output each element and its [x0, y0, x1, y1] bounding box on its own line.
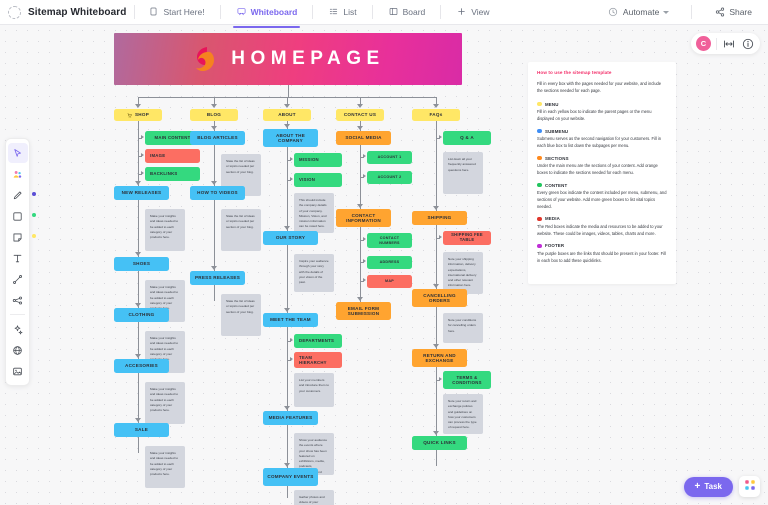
tab-start-here[interactable]: Start Here! [143, 1, 209, 23]
connector-arrow [135, 104, 141, 108]
legend-section-menu: MENUFill in each yellow box to indicate … [537, 102, 667, 123]
node-sticky-note[interactable]: Inspire your audience through your story… [294, 254, 334, 292]
globe-icon [12, 345, 23, 356]
connector-arrow [211, 266, 217, 270]
node-label: BLOG ARTICLES [197, 135, 238, 140]
node-label: MAP [385, 279, 394, 283]
connector-arrow [290, 157, 293, 161]
board-icon [388, 6, 399, 17]
sticky-note-tool[interactable] [8, 227, 28, 247]
node-how-to-videos[interactable]: HOW TO VIDEOS [190, 186, 245, 200]
node-label: NEW RELEASES [122, 190, 162, 195]
legend-section-header: SUBMENU [537, 129, 667, 134]
connector-arrow [433, 104, 439, 108]
connector-arrow [433, 431, 439, 435]
task-label: Task [704, 482, 722, 491]
sticky-note-text: Note your return and exchange policies a… [448, 399, 478, 431]
connector-arrow [135, 303, 141, 307]
node-label: COMPANY EVENTS [267, 474, 313, 479]
node-sticky-note[interactable]: Gather photos and videos of your company… [294, 490, 334, 505]
homepage-banner[interactable]: HOMEPAGE [114, 33, 462, 85]
sticky-note-text: Note your shipping information, delivery… [448, 257, 478, 289]
node-shoes[interactable]: SHOES [114, 257, 169, 271]
node-label: OUR STORY [276, 235, 305, 240]
sticky-note-text: Inspire your audience through your story… [299, 259, 329, 285]
mindmap-tool[interactable] [8, 290, 28, 310]
connector-arrow [439, 135, 442, 139]
node-label: ACCESORIES [125, 363, 158, 368]
image-tool[interactable] [8, 361, 28, 381]
legend-section-header: MEDIA [537, 216, 667, 221]
connector-arrow [211, 181, 217, 185]
divider [372, 5, 373, 19]
sticky-note-text: Make your insights and ideas needed to b… [150, 214, 180, 240]
node-label: ACCOUNT 2 [378, 175, 402, 179]
legend-color-dot [537, 244, 542, 249]
node-media-features[interactable]: MEDIA FEATURES [263, 411, 318, 425]
embed-tool[interactable] [8, 340, 28, 360]
divider [134, 5, 135, 19]
tab-label: List [343, 7, 356, 17]
legend-section-header: CONTENT [537, 183, 667, 188]
node-q-a[interactable]: Q & A [443, 131, 491, 145]
node-label: HOW TO VIDEOS [197, 190, 238, 195]
connector-arrow [290, 177, 293, 181]
node-departments[interactable]: DEPARTMENTS [294, 334, 342, 348]
connector-arrow [439, 377, 442, 381]
legend-section-name: MENU [545, 102, 559, 107]
legend-section-header: FOOTER [537, 243, 667, 248]
node-contact-numbers[interactable]: CONTACT NUMBERS [367, 233, 412, 248]
connector-arrow [135, 354, 141, 358]
ai-tool[interactable] [8, 319, 28, 339]
connector-arrow [363, 259, 366, 263]
connector-arrow [357, 297, 363, 301]
share-label: Share [729, 7, 752, 17]
legend-section-content: CONTENTEvery green box indicate the cont… [537, 183, 667, 211]
tab-label: Start Here! [163, 7, 204, 17]
divider [312, 5, 313, 19]
connector-arrow [290, 338, 293, 342]
connector-arrow [439, 235, 442, 239]
node-email-form-submission[interactable]: EMAIL FORM SUBMISSION [336, 302, 391, 320]
node-label: RETURN AND EXCHANGE [415, 353, 464, 364]
node-account-2[interactable]: ACCOUNT 2 [367, 171, 412, 184]
node-vision[interactable]: VISION [294, 173, 342, 187]
share-button[interactable]: Share [706, 3, 760, 22]
info-icon[interactable] [741, 37, 755, 51]
node-sticky-note[interactable]: This should include the company details … [294, 193, 334, 233]
top-bar: Sitemap Whiteboard Start Here!Whiteboard… [0, 0, 768, 25]
node-press-releases[interactable]: PRESS RELEASES [190, 271, 245, 285]
pen-tool[interactable] [8, 185, 28, 205]
node-faqs[interactable]: FAQs [412, 109, 460, 121]
sticky-note-text: List your members and introduce them to … [299, 378, 329, 394]
sticky-note-text: Make your insights and ideas needed to b… [150, 451, 180, 477]
node-label: TERMS & CONDITIONS [446, 375, 488, 385]
list-icon [328, 6, 339, 17]
node-label: SHIPPING [428, 215, 452, 220]
whiteboard-canvas[interactable]: HOMEPAGE SHOPBLOGABOUTCONTACT USFAQsMAIN… [0, 25, 768, 505]
node-shipping[interactable]: SHIPPING [412, 211, 467, 225]
color-indicator-dot [32, 213, 36, 217]
legend-color-dot [537, 217, 542, 222]
sticky-note-text: State the list of ideas or topics needed… [226, 214, 256, 230]
connector-line [138, 121, 139, 453]
square-icon [12, 211, 23, 222]
homepage-title: HOMEPAGE [231, 48, 384, 70]
divider [220, 5, 221, 19]
add-task-button[interactable]: + Task [684, 477, 733, 497]
tab-list[interactable]: List [323, 1, 361, 23]
connector-arrow [211, 126, 217, 130]
legend-section-name: CONTENT [545, 183, 567, 188]
legend-section-text: The purple boxes are the links that shou… [537, 251, 667, 265]
tab-label: Whiteboard [251, 7, 298, 17]
node-sticky-note[interactable]: State the list of ideas or topics needed… [221, 209, 261, 251]
node-label: SHOP [135, 112, 149, 117]
tab-view[interactable]: View [451, 1, 494, 23]
node-label: ADDRESS [380, 260, 400, 264]
legend-section-text: Fill in each yellow box to indicate the … [537, 109, 667, 123]
left-toolbar [5, 138, 30, 386]
connector-arrow [284, 406, 290, 410]
sticky-note-text: This should include the company details … [299, 198, 329, 230]
connector-arrow [284, 226, 290, 230]
node-sticky-note[interactable]: List your members and introduce them to … [294, 373, 334, 407]
legend-section-name: MEDIA [545, 216, 560, 221]
node-label: MEDIA FEATURES [269, 415, 313, 420]
node-meet-the-team[interactable]: MEET THE TEAM [263, 313, 318, 327]
node-shop[interactable]: SHOP [114, 109, 162, 121]
bottom-right-actions: + Task [684, 476, 760, 497]
node-our-story[interactable]: OUR STORY [263, 231, 318, 245]
tab-whiteboard[interactable]: Whiteboard [231, 1, 303, 23]
brand-mark-icon [191, 45, 217, 73]
node-sticky-note[interactable]: Note your conditions for cancelling orde… [443, 313, 483, 343]
node-label: VISION [299, 177, 315, 182]
legend-color-dot [537, 102, 542, 107]
chevron-down-icon[interactable] [663, 11, 669, 14]
node-label: ABOUT [278, 112, 296, 117]
connector-arrow [363, 278, 366, 282]
node-quick-links[interactable]: QUICK LINKS [412, 436, 467, 450]
legend-section-submenu: SUBMENUSubmenu serves as the second navi… [537, 129, 667, 150]
presence-bar: C [691, 33, 760, 54]
node-label: MAIN CONTENT [155, 135, 191, 140]
connector-arrow [284, 124, 290, 128]
plus-icon [456, 6, 467, 17]
node-sticky-note[interactable]: List down all your frequently answered q… [443, 152, 483, 194]
doc-icon [148, 6, 159, 17]
legend-section-name: FOOTER [545, 243, 564, 248]
connector-arrow [363, 174, 366, 178]
legend-color-dot [537, 129, 542, 134]
legend-section-text: Every green box indicate the content inc… [537, 190, 667, 210]
connector-arrow [433, 284, 439, 288]
node-shipping-fee-table[interactable]: SHIPPING FEE TABLE [443, 231, 491, 245]
node-account-1[interactable]: ACCOUNT 1 [367, 151, 412, 164]
automate-label: Automate [623, 7, 659, 17]
connector-arrow [357, 104, 363, 108]
legend-section-header: SECTIONS [537, 156, 667, 161]
divider [716, 38, 717, 50]
legend-section-media: MEDIAThe Red boxes indicate the media an… [537, 216, 667, 237]
node-label: FAQs [430, 112, 443, 117]
node-label: SHOES [133, 261, 150, 266]
node-sticky-note[interactable]: Make your insights and ideas needed to b… [145, 382, 185, 424]
sticky-note-text: Note your conditions for cancelling orde… [448, 318, 478, 334]
node-backlinks[interactable]: BACKLINKS [145, 167, 200, 181]
node-label: CANCELLING ORDERS [415, 293, 464, 304]
legend-color-dot [537, 183, 542, 188]
sticky-note-icon [12, 232, 23, 243]
node-label: CONTACT US [344, 112, 376, 117]
node-sticky-note[interactable]: Note your shipping information, delivery… [443, 252, 483, 294]
sticky-note-text: Gather photos and videos of your company… [299, 495, 329, 505]
connector-arrow [284, 463, 290, 467]
whiteboard-icon [236, 6, 247, 17]
share-icon [714, 7, 725, 18]
node-label: TEAM HIERARCHY [299, 355, 339, 365]
page-title: Sitemap Whiteboard [28, 7, 126, 18]
color-indicator-dot [32, 192, 36, 196]
connector-arrow [284, 308, 290, 312]
node-image[interactable]: IMAGE [145, 149, 200, 163]
node-label: ABOUT THE COMPANY [266, 133, 315, 144]
node-blog-articles[interactable]: BLOG ARTICLES [190, 131, 245, 145]
legend-intro: Fill in every box with the pages needed … [537, 81, 667, 95]
top-bar-actions: Automate Share [600, 3, 760, 22]
tab-board[interactable]: Board [383, 1, 431, 23]
connector-arrow [135, 181, 141, 185]
plus-icon: + [695, 482, 701, 492]
connector-arrow [211, 104, 217, 108]
legend-section-header: MENU [537, 102, 667, 107]
sticky-note-text: Make your insights and ideas needed to b… [150, 387, 180, 413]
node-contact-us[interactable]: CONTACT US [336, 109, 384, 121]
text-icon [12, 253, 23, 264]
node-label: CONTACT INFORMATION [339, 213, 388, 224]
cursor-icon [12, 148, 23, 159]
automate-button[interactable]: Automate [600, 3, 677, 22]
divider [691, 5, 692, 19]
connector-arrow [290, 357, 293, 361]
node-label: IMAGE [150, 153, 165, 158]
connector-arrow [357, 126, 363, 130]
sparkle-icon [12, 324, 23, 335]
node-sale[interactable]: SALE [114, 423, 169, 437]
legend-section-text: Under the main menu are the sections of … [537, 163, 667, 177]
shape-tool[interactable] [8, 206, 28, 226]
node-label: PRESS RELEASES [195, 275, 240, 280]
sticky-note-text: State the list of ideas or topics needed… [226, 299, 256, 315]
color-indicator-dot [32, 234, 36, 238]
node-accesories[interactable]: ACCESORIES [114, 359, 169, 373]
connector-arrow [433, 344, 439, 348]
connector-arrow [141, 135, 144, 139]
node-label: BLOG [207, 112, 221, 117]
node-label: MISSION [299, 157, 319, 162]
node-mission[interactable]: MISSION [294, 153, 342, 167]
node-label: MEET THE TEAM [270, 317, 311, 322]
node-new-releases[interactable]: NEW RELEASES [114, 186, 169, 200]
node-label: DEPARTMENTS [299, 338, 334, 343]
sticky-note-text: State the list of ideas or topics needed… [226, 159, 256, 175]
node-label: SOCIAL MEDIA [345, 135, 381, 140]
node-label: ACCOUNT 1 [378, 155, 402, 159]
sticky-note-text: List down all your frequently answered q… [448, 157, 478, 173]
divider [440, 5, 441, 19]
node-label: SALE [135, 427, 148, 432]
toolbar-divider [10, 314, 25, 315]
mindmap-icon [12, 295, 23, 306]
node-sticky-note[interactable]: Make your insights and ideas needed to b… [145, 446, 185, 488]
connector-arrow [284, 104, 290, 108]
node-contact-information[interactable]: CONTACT INFORMATION [336, 209, 391, 227]
connector-arrow [141, 171, 144, 175]
node-label: CLOTHING [129, 312, 155, 317]
avatar[interactable]: C [696, 36, 711, 51]
node-clothing[interactable]: CLOTHING [114, 308, 169, 322]
text-tool[interactable] [8, 248, 28, 268]
legend-section-sections: SECTIONSUnder the main menu are the sect… [537, 156, 667, 177]
legend-color-dot [537, 156, 542, 161]
select-tool[interactable] [8, 143, 28, 163]
connector-icon [12, 274, 23, 285]
connector-arrow [433, 206, 439, 210]
connector-arrow [135, 418, 141, 422]
node-social-media[interactable]: SOCIAL MEDIA [336, 131, 391, 145]
image-icon [12, 366, 23, 377]
node-sticky-note[interactable]: Make your insights and ideas needed to b… [145, 209, 185, 251]
node-map[interactable]: MAP [367, 275, 412, 288]
node-label: BACKLINKS [150, 171, 178, 176]
node-team-hierarchy[interactable]: TEAM HIERARCHY [294, 352, 342, 368]
node-terms-conditions[interactable]: TERMS & CONDITIONS [443, 371, 491, 389]
legend-section-name: SECTIONS [545, 156, 569, 161]
legend-title: How to use the sitemap template [537, 70, 667, 75]
automation-icon [608, 7, 619, 18]
node-company-events[interactable]: COMPANY EVENTS [263, 468, 318, 486]
node-return-and-exchange[interactable]: RETURN AND EXCHANGE [412, 349, 467, 367]
node-sticky-note[interactable]: Note your return and exchange policies a… [443, 394, 483, 434]
legend-section-name: SUBMENU [545, 129, 568, 134]
node-cancelling-orders[interactable]: CANCELLING ORDERS [412, 289, 467, 307]
clickup-logo-icon [8, 6, 21, 19]
node-sticky-note[interactable]: State the list of ideas or topics needed… [221, 294, 261, 336]
node-label: CONTACT NUMBERS [370, 236, 409, 245]
node-label: SHIPPING FEE TABLE [446, 233, 488, 243]
fit-to-screen-icon[interactable] [722, 37, 736, 51]
legend-panel[interactable]: How to use the sitemap template Fill in … [528, 62, 676, 284]
node-label: Q & A [460, 135, 474, 140]
connector-arrow [135, 252, 141, 256]
connector-arrow [363, 237, 366, 241]
pen-icon [12, 190, 23, 201]
connector-arrow [363, 154, 366, 158]
legend-section-footer: FOOTERThe purple boxes are the links tha… [537, 243, 667, 264]
people-icon [12, 169, 23, 180]
node-address[interactable]: ADDRESS [367, 256, 412, 269]
cart-icon [127, 113, 132, 118]
node-blog[interactable]: BLOG [190, 109, 238, 121]
apps-grid-icon [744, 478, 756, 496]
apps-grid-button[interactable] [739, 476, 760, 497]
node-label: EMAIL FORM SUBMISSION [339, 306, 388, 317]
connector-tool[interactable] [8, 269, 28, 289]
connector-line [288, 85, 289, 97]
connector-arrow [357, 204, 363, 208]
node-label: QUICK LINKS [423, 440, 456, 445]
legend-section-text: The Red boxes indicate the media and res… [537, 224, 667, 238]
node-about-the-company[interactable]: ABOUT THE COMPANY [263, 129, 318, 147]
legend-section-text: Submenu serves as the second navigation … [537, 136, 667, 150]
tab-label: Board [403, 7, 426, 17]
node-about[interactable]: ABOUT [263, 109, 311, 121]
tab-label: View [471, 7, 489, 17]
collaboration-tool[interactable] [8, 164, 28, 184]
connector-arrow [141, 153, 144, 157]
